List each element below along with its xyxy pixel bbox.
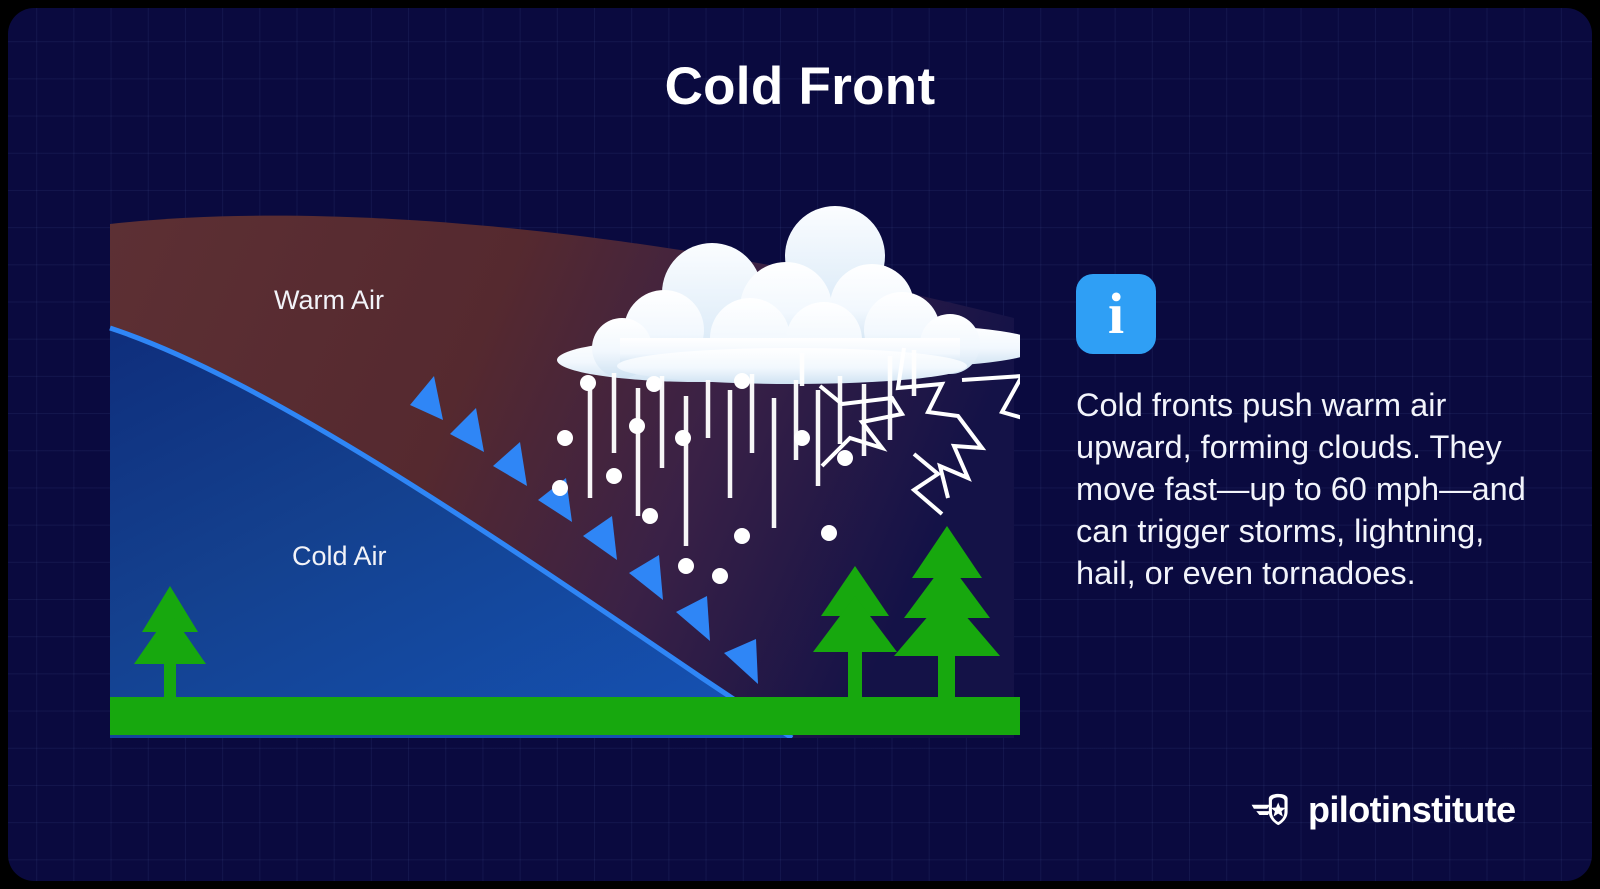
infographic-card: Cold Front	[8, 8, 1592, 881]
cold-front-diagram: Warm Air Cold Air	[102, 198, 1020, 738]
info-icon: i	[1076, 274, 1156, 354]
brand-name: pilotinstitute	[1308, 789, 1516, 831]
info-panel: i Cold fronts push warm air upward, form…	[1076, 274, 1546, 594]
info-icon-glyph: i	[1108, 285, 1124, 343]
cold-air-label: Cold Air	[292, 541, 387, 571]
page-title: Cold Front	[8, 56, 1592, 117]
warm-air-label: Warm Air	[274, 285, 384, 315]
ground-strip	[110, 697, 1020, 735]
winged-shield-star-icon	[1250, 786, 1297, 833]
info-description: Cold fronts push warm air upward, formin…	[1076, 384, 1531, 594]
brand-logo: pilotinstitute	[1250, 786, 1516, 833]
